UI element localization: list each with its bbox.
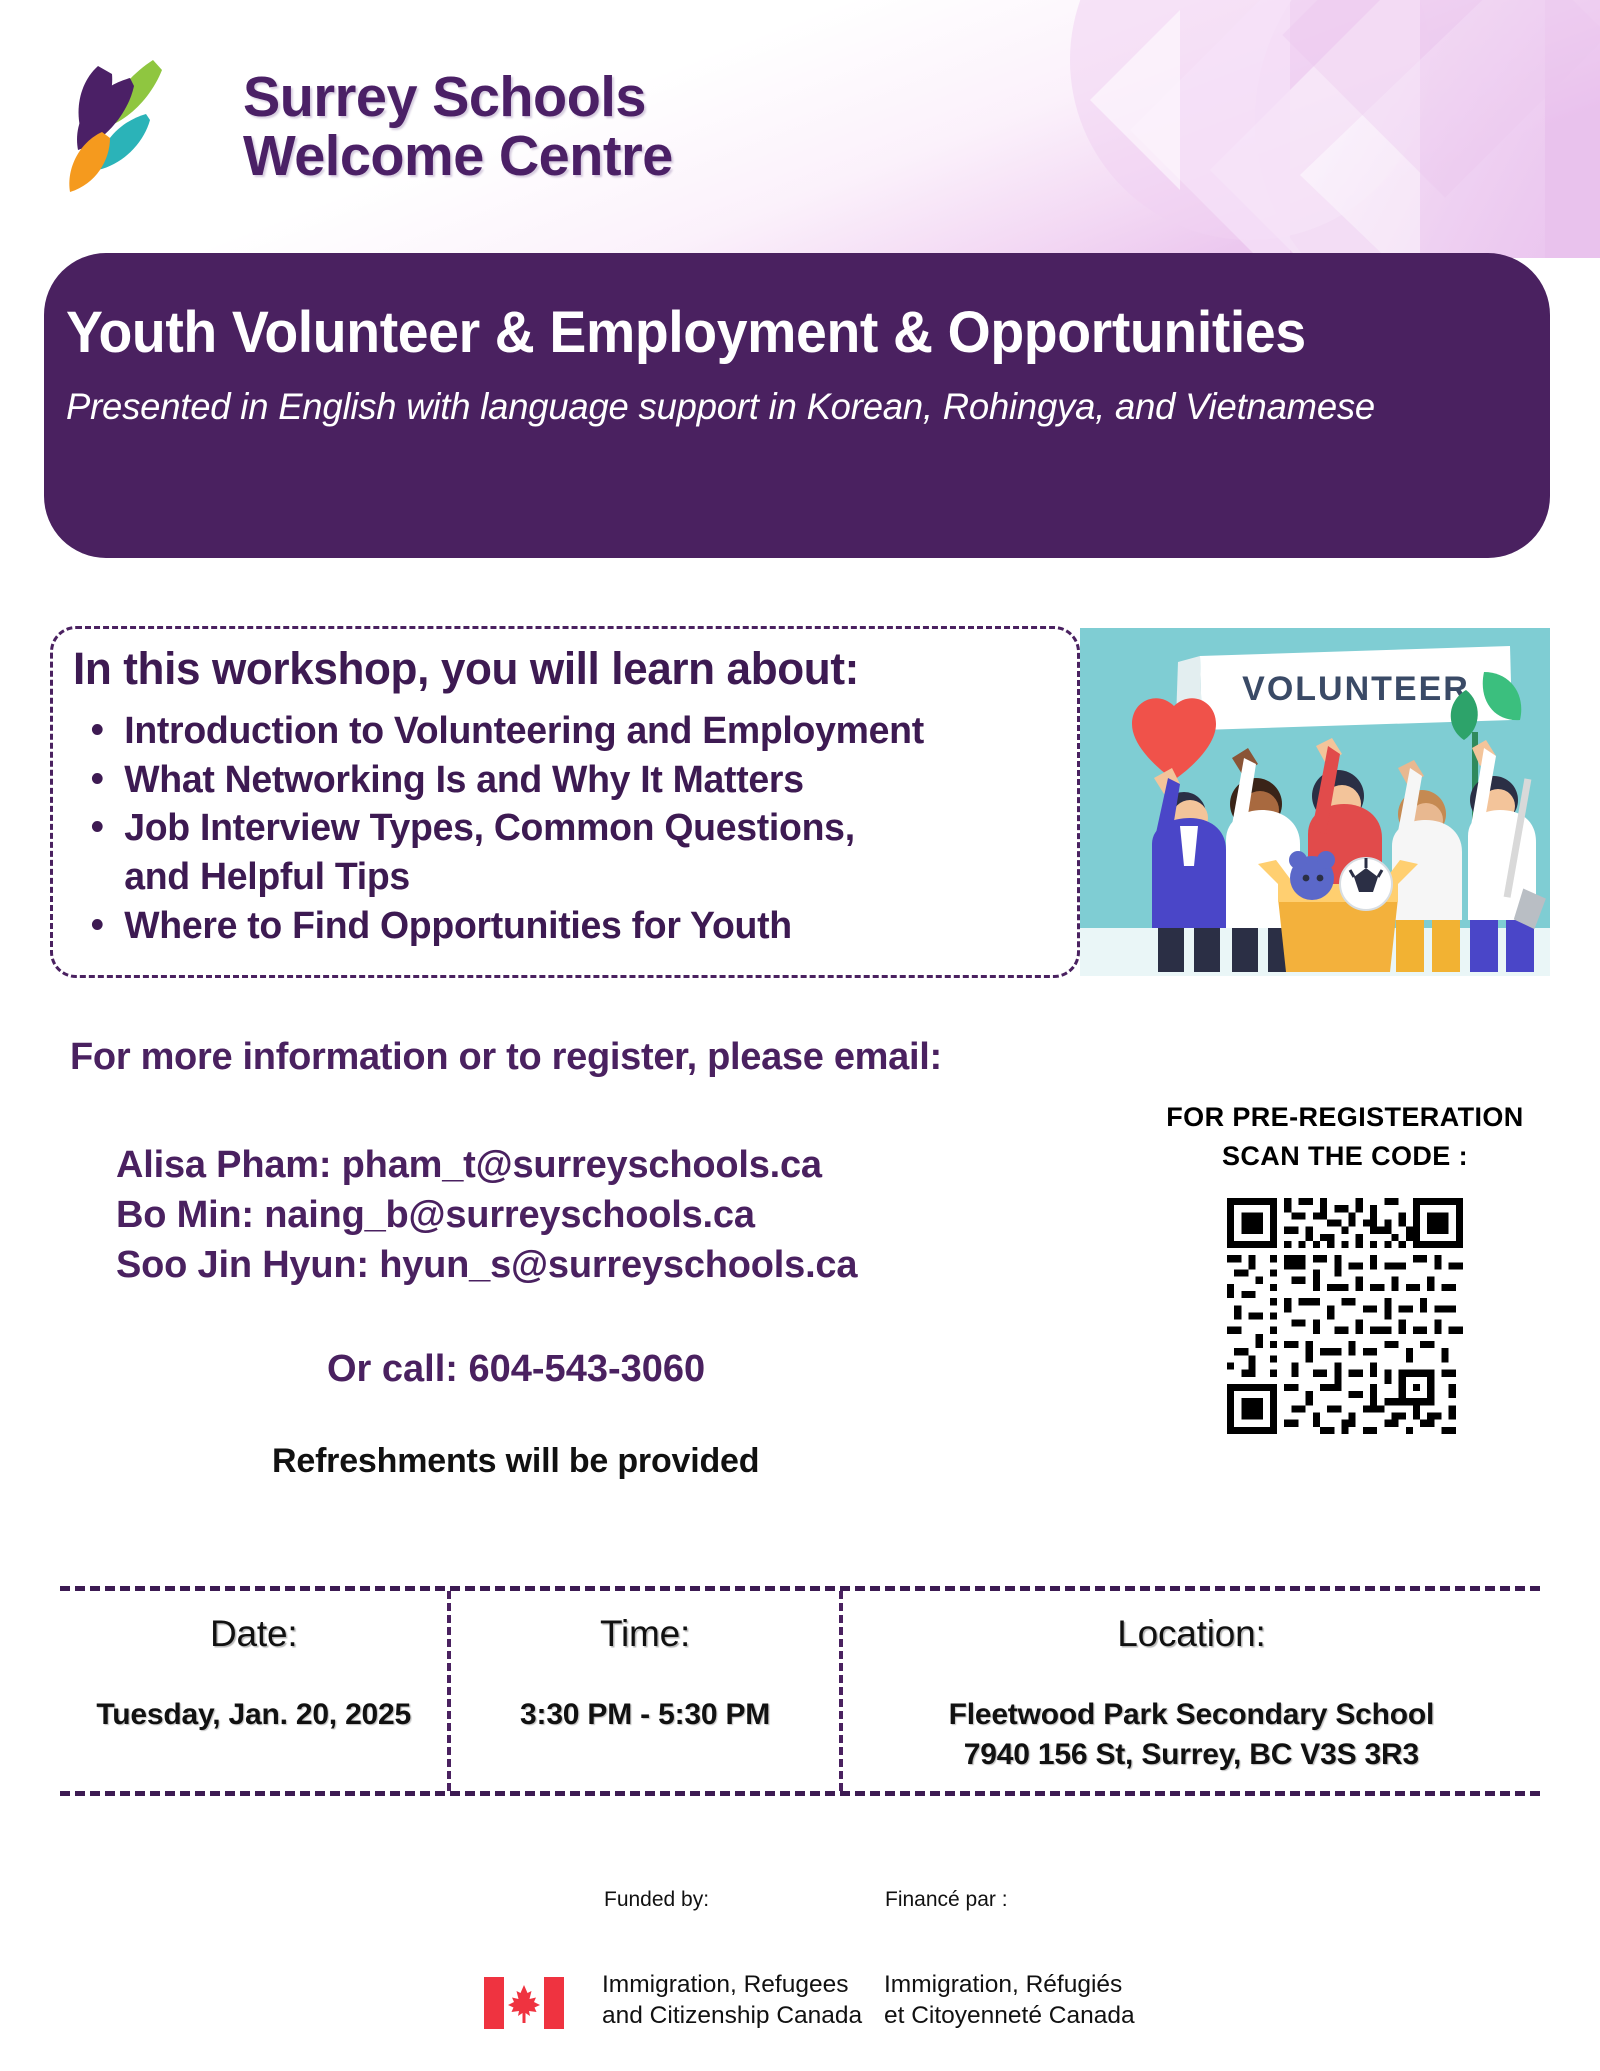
detail-time-label: Time:: [451, 1613, 838, 1655]
contact-intro: For more information or to register, ple…: [70, 1036, 942, 1079]
surrey-schools-logo-icon: [58, 52, 233, 202]
detail-location-line-2: 7940 156 St, Surrey, BC V3S 3R3: [843, 1735, 1540, 1775]
detail-location: Location: Fleetwood Park Secondary Schoo…: [839, 1591, 1540, 1791]
ircc-fr-line-1: Immigration, Réfugiés: [884, 1969, 1135, 2000]
contact-phone[interactable]: Or call: 604-543-3060: [327, 1348, 705, 1391]
workshop-topic-list: Introduction to Volunteering and Employm…: [73, 707, 1077, 950]
qr-code-icon[interactable]: [1227, 1198, 1463, 1434]
canada-flag-icon: [484, 1977, 564, 2029]
detail-time: Time: 3:30 PM - 5:30 PM: [447, 1591, 838, 1791]
ircc-en-line-2: and Citizenship Canada: [602, 2000, 862, 2031]
detail-date-value: Tuesday, Jan. 20, 2025: [60, 1695, 447, 1735]
list-item: Where to Find Opportunities for Youth: [73, 902, 1062, 951]
brand-line-1: Surrey Schools: [243, 68, 673, 127]
page-subtitle: Presented in English with language suppo…: [66, 386, 1528, 428]
qr-code[interactable]: [1227, 1198, 1463, 1434]
list-item: Introduction to Volunteering and Employm…: [73, 707, 1062, 756]
list-item-continuation: and Helpful Tips: [73, 853, 1062, 902]
volunteer-group-icon: VOLUNTEER: [1080, 628, 1550, 976]
detail-location-label: Location:: [843, 1613, 1540, 1655]
volunteer-illustration: VOLUNTEER: [1080, 628, 1550, 976]
detail-date-label: Date:: [60, 1613, 447, 1655]
brand-name: Surrey Schools Welcome Centre: [243, 68, 673, 185]
illustration-banner-text: VOLUNTEER: [1242, 670, 1470, 708]
detail-time-value: 3:30 PM - 5:30 PM: [451, 1695, 838, 1735]
qr-caption-line-2: SCAN THE CODE :: [1135, 1137, 1555, 1176]
list-item: What Networking Is and Why It Matters: [73, 756, 1062, 805]
brand-line-2: Welcome Centre: [243, 127, 673, 186]
brand-logo: Surrey Schools Welcome Centre: [58, 52, 682, 202]
event-details: Date: Tuesday, Jan. 20, 2025 Time: 3:30 …: [60, 1586, 1540, 1796]
list-item: Job Interview Types, Common Questions,: [73, 804, 1062, 853]
detail-location-value: Fleetwood Park Secondary School 7940 156…: [843, 1695, 1540, 1774]
funding-footer: Funded by: Financé par : Immigration, Re…: [0, 1888, 1600, 2065]
workshop-topics-box: In this workshop, you will learn about: …: [50, 626, 1080, 978]
detail-location-line-1: Fleetwood Park Secondary School: [843, 1695, 1540, 1735]
ircc-en-line-1: Immigration, Refugees: [602, 1969, 862, 2000]
contact-email-item[interactable]: Soo Jin Hyun: hyun_s@surreyschools.ca: [116, 1240, 857, 1290]
qr-registration-block: FOR PRE-REGISTERATION SCAN THE CODE :: [1135, 1098, 1555, 1434]
workshop-heading: In this workshop, you will learn about:: [73, 643, 1057, 695]
contact-email-list: Alisa Pham: pham_t@surreyschools.ca Bo M…: [116, 1140, 857, 1290]
title-banner: Youth Volunteer & Employment & Opportuni…: [44, 253, 1550, 558]
funded-by-label: Funded by:: [604, 1888, 709, 1912]
ircc-fr-line-2: et Citoyenneté Canada: [884, 2000, 1135, 2031]
detail-date: Date: Tuesday, Jan. 20, 2025: [60, 1591, 447, 1791]
contact-email-item[interactable]: Bo Min: naing_b@surreyschools.ca: [116, 1190, 857, 1240]
ircc-french-name: Immigration, Réfugiés et Citoyenneté Can…: [884, 1969, 1135, 2032]
contact-email-item[interactable]: Alisa Pham: pham_t@surreyschools.ca: [116, 1140, 857, 1190]
page-title: Youth Volunteer & Employment & Opportuni…: [66, 303, 1483, 364]
ircc-english-name: Immigration, Refugees and Citizenship Ca…: [602, 1969, 862, 2032]
qr-caption-line-1: FOR PRE-REGISTERATION: [1135, 1098, 1555, 1137]
finance-par-label: Financé par :: [885, 1888, 1008, 1912]
refreshments-note: Refreshments will be provided: [272, 1442, 759, 1481]
